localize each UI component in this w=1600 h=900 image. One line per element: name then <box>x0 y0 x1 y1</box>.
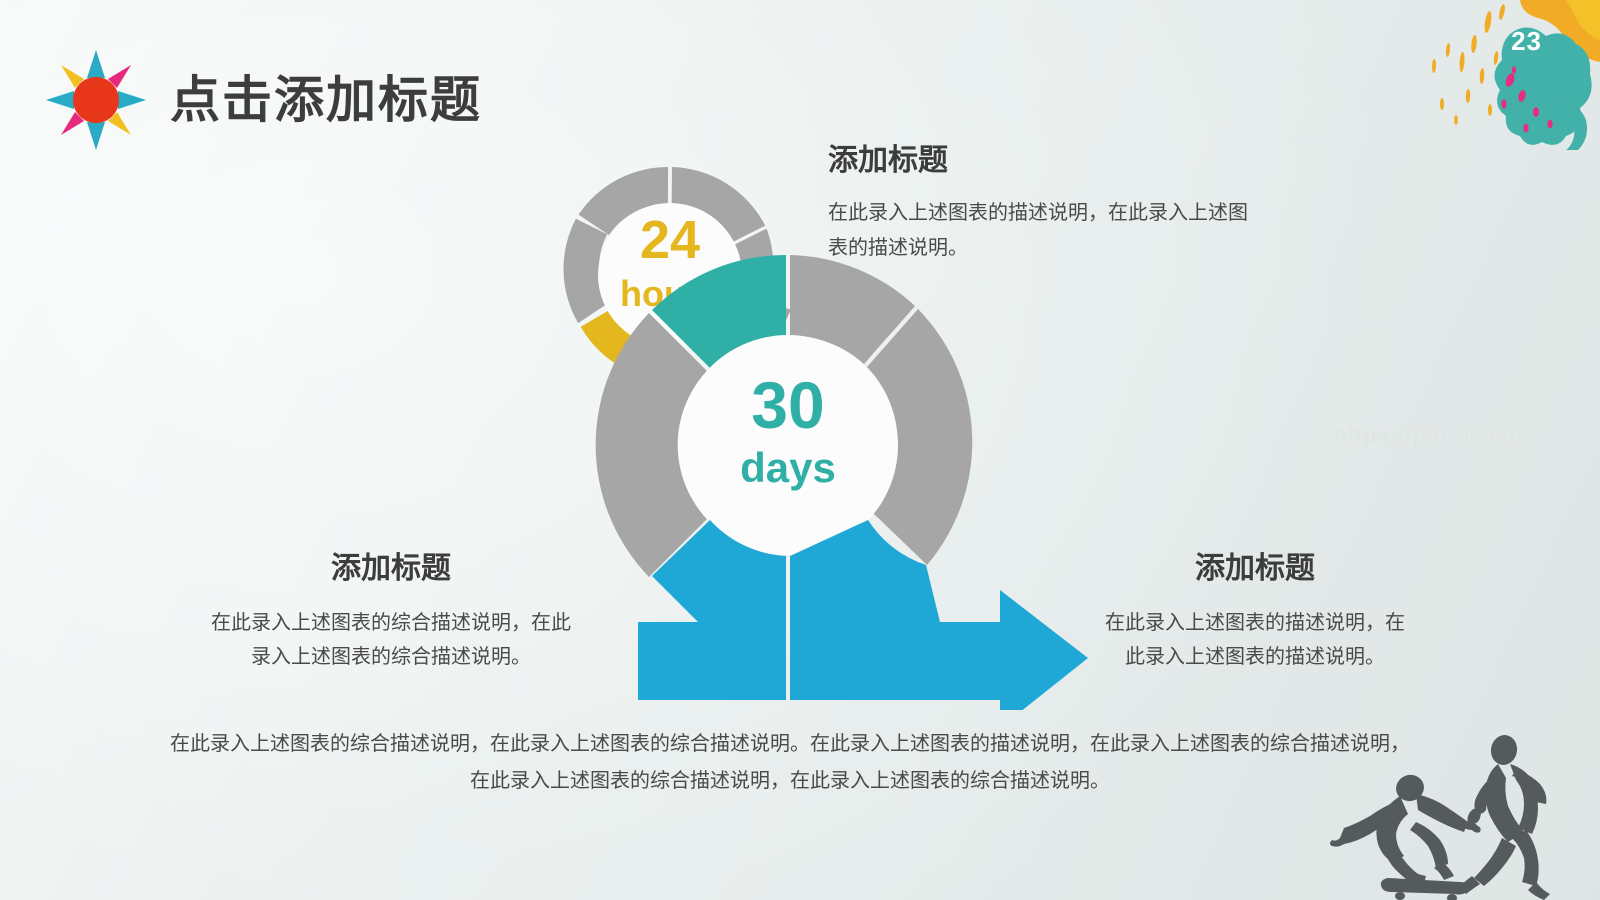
text-block-bottom-left: 添加标题 在此录入上述图表的综合描述说明，在此录入上述图表的综合描述说明。 <box>206 550 576 674</box>
watermark-url: https://ppt.pkll.de <box>1334 422 1531 449</box>
bottom-right-title: 添加标题 <box>1100 550 1410 588</box>
slide-canvas: 23 点击添加标题 https://ppt.pkll.de <box>0 0 1600 900</box>
bottom-left-body: 在此录入上述图表的综合描述说明，在此录入上述图表的综合描述说明。 <box>206 606 576 675</box>
runner-icon <box>1458 733 1550 900</box>
hours-value: 24 <box>640 210 700 270</box>
top-right-body: 在此录入上述图表的描述说明，在此录入上述图表的描述说明。 <box>828 196 1248 266</box>
paint-splatter-decoration <box>1370 0 1600 150</box>
sun-icon <box>44 48 148 152</box>
blue-arrow-group <box>638 520 1088 710</box>
slide-header: 点击添加标题 <box>44 48 482 152</box>
bottom-left-title: 添加标题 <box>206 550 576 588</box>
days-value: 30 <box>751 368 824 442</box>
footer-paragraph: 在此录入上述图表的综合描述说明，在此录入上述图表的综合描述说明。在此录入上述图表… <box>170 726 1410 800</box>
text-block-top-right: 添加标题 在此录入上述图表的描述说明，在此录入上述图表的描述说明。 <box>828 142 1248 266</box>
top-right-title: 添加标题 <box>828 142 1248 180</box>
days-unit: days <box>740 444 836 491</box>
bottom-right-body: 在此录入上述图表的描述说明，在此录入上述图表的描述说明。 <box>1100 606 1410 675</box>
text-block-bottom-right: 添加标题 在此录入上述图表的描述说明，在此录入上述图表的描述说明。 <box>1100 550 1410 674</box>
page-title: 点击添加标题 <box>170 75 482 125</box>
page-number: 23 <box>1511 26 1542 57</box>
